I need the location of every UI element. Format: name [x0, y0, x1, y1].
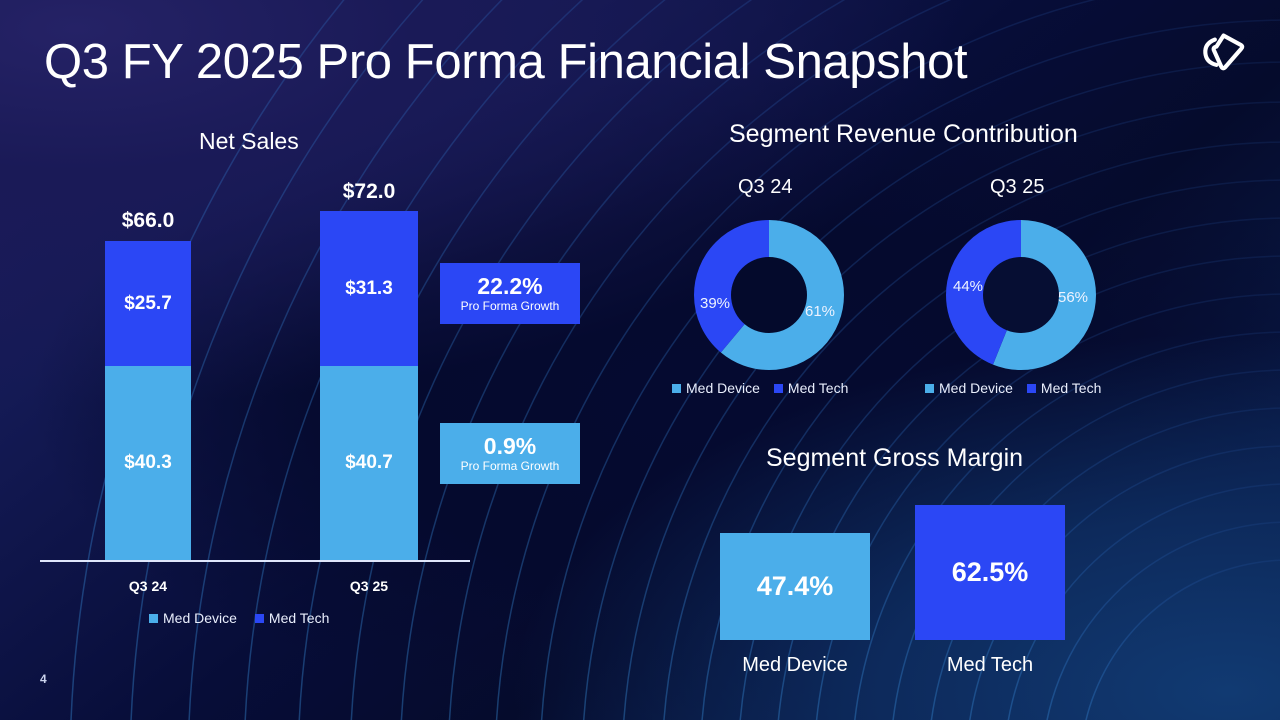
callout-value-med-tech: 22.2% [477, 274, 542, 298]
net-sales-bar-q3-24: $25.7 $40.3 [105, 241, 191, 560]
gross-margin-label-med-tech: Med Tech [915, 654, 1065, 677]
callout-value-med-device: 0.9% [484, 434, 536, 458]
donut-legend-q3-24: Med Device Med Tech [672, 380, 848, 396]
net-sales-value-med-tech-q3-25: $31.3 [345, 278, 393, 300]
callout-caption-med-device: Pro Forma Growth [461, 459, 560, 473]
net-sales-category-q3-24: Q3 24 [105, 578, 191, 594]
donut-percent-med-device-q3-25: 56% [1058, 289, 1088, 306]
legend-swatch-med-tech-icon [774, 384, 783, 393]
legend-label-med-device: Med Device [163, 610, 237, 626]
page-number: 4 [40, 672, 47, 686]
net-sales-total-label-q3-25: $72.0 [320, 180, 418, 204]
net-sales-segment-med-tech-q3-25: $31.3 [320, 211, 418, 366]
net-sales-bar-q3-25: $31.3 $40.7 [320, 211, 418, 560]
legend-label-med-tech-q3-25: Med Tech [1041, 380, 1101, 396]
net-sales-title: Net Sales [199, 128, 299, 155]
legend-item-med-tech-q3-25: Med Tech [1027, 380, 1101, 396]
gross-margin-bar-med-tech: 62.5% [915, 505, 1065, 640]
net-sales-total-label-q3-24: $66.0 [105, 209, 191, 233]
company-logo-icon [1196, 30, 1248, 76]
legend-item-med-tech-q3-24: Med Tech [774, 380, 848, 396]
callout-pro-forma-growth-med-tech: 22.2% Pro Forma Growth [440, 263, 580, 324]
legend-label-med-tech: Med Tech [269, 610, 329, 626]
net-sales-category-q3-25: Q3 25 [320, 578, 418, 594]
legend-swatch-med-device-icon [672, 384, 681, 393]
net-sales-segment-med-tech-q3-24: $25.7 [105, 241, 191, 366]
gross-margin-value-med-tech: 62.5% [952, 557, 1029, 588]
legend-swatch-med-device-icon [925, 384, 934, 393]
legend-item-med-device-q3-25: Med Device [925, 380, 1013, 396]
callout-pro-forma-growth-med-device: 0.9% Pro Forma Growth [440, 423, 580, 484]
legend-item-med-device: Med Device [149, 610, 237, 626]
donut-percent-med-tech-q3-24: 39% [700, 295, 730, 312]
callout-caption-med-tech: Pro Forma Growth [461, 299, 560, 313]
net-sales-axis-line [40, 560, 470, 562]
legend-item-med-device-q3-24: Med Device [672, 380, 760, 396]
segment-gross-margin-title: Segment Gross Margin [766, 444, 1023, 473]
legend-swatch-med-tech-icon [255, 614, 264, 623]
net-sales-segment-med-device-q3-25: $40.7 [320, 366, 418, 560]
donut-percent-med-device-q3-24: 61% [805, 303, 835, 320]
segment-revenue-title: Segment Revenue Contribution [729, 120, 1078, 149]
net-sales-value-med-tech-q3-24: $25.7 [124, 293, 172, 315]
gross-margin-label-med-device: Med Device [720, 654, 870, 677]
legend-label-med-device-q3-25: Med Device [939, 380, 1013, 396]
slide: Q3 FY 2025 Pro Forma Financial Snapshot … [0, 0, 1280, 720]
gross-margin-bar-med-device: 47.4% [720, 533, 870, 640]
net-sales-segment-med-device-q3-24: $40.3 [105, 366, 191, 560]
donut-title-q3-25: Q3 25 [990, 176, 1044, 199]
page-title: Q3 FY 2025 Pro Forma Financial Snapshot [44, 34, 967, 90]
donut-hole-q3-25 [983, 257, 1059, 333]
legend-swatch-med-device-icon [149, 614, 158, 623]
legend-label-med-device-q3-24: Med Device [686, 380, 760, 396]
donut-legend-q3-25: Med Device Med Tech [925, 380, 1101, 396]
legend-swatch-med-tech-icon [1027, 384, 1036, 393]
gross-margin-value-med-device: 47.4% [757, 571, 834, 602]
donut-percent-med-tech-q3-25: 44% [953, 278, 983, 295]
legend-label-med-tech-q3-24: Med Tech [788, 380, 848, 396]
legend-item-med-tech: Med Tech [255, 610, 329, 626]
donut-title-q3-24: Q3 24 [738, 176, 792, 199]
net-sales-legend: Med Device Med Tech [149, 610, 329, 626]
net-sales-value-med-device-q3-25: $40.7 [345, 452, 393, 474]
net-sales-value-med-device-q3-24: $40.3 [124, 452, 172, 474]
donut-hole-q3-24 [731, 257, 807, 333]
